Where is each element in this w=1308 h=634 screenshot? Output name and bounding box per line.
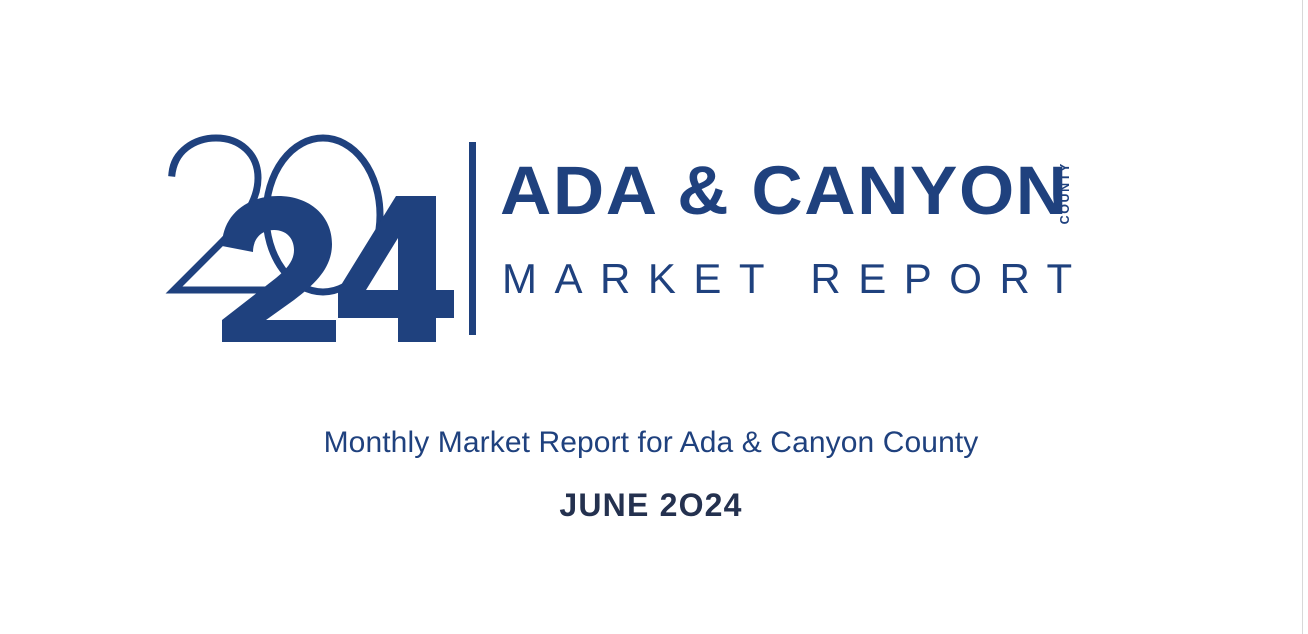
logo-divider-bar (469, 142, 476, 335)
page-edge-rule (1302, 0, 1303, 634)
wordmark-primary-row: ADA & CANYON COUNTY (500, 156, 1072, 225)
wordmark-secondary-text: MARKET REPORT (502, 258, 1090, 300)
cover-content: ADA & CANYON COUNTY MARKET REPORT Monthl… (0, 0, 1302, 634)
logo-year-mark-2024 (160, 130, 460, 345)
cover-subtitle: Monthly Market Report for Ada & Canyon C… (0, 425, 1302, 461)
logo-year-svg (160, 130, 460, 345)
report-cover-page: ADA & CANYON COUNTY MARKET REPORT Monthl… (0, 0, 1308, 634)
wordmark-primary-text: ADA & CANYON (500, 156, 1069, 225)
solid-digit-4 (338, 196, 454, 342)
brand-logo-lockup: ADA & CANYON COUNTY MARKET REPORT (160, 130, 1170, 345)
wordmark-county-text: COUNTY (1059, 162, 1072, 224)
cover-date: JUNE 2O24 (0, 486, 1302, 524)
